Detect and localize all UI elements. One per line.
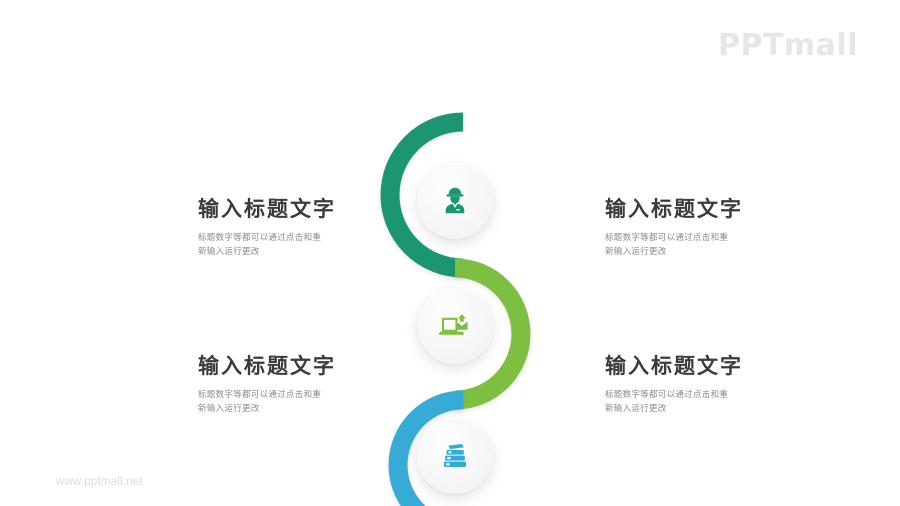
worker-helmet-icon — [438, 184, 472, 218]
text-block-description: 标题数字等都可以通过点击和重 新输入运行更改 — [198, 388, 428, 416]
laptop-mail-icon — [437, 309, 473, 343]
text-block-description: 标题数字等都可以通过点击和重 新输入运行更改 — [605, 231, 835, 259]
text-block-bottom-left: 输入标题文字 标题数字等都可以通过点击和重 新输入运行更改 — [198, 353, 428, 416]
icon-circle-laptop-mail[interactable] — [417, 288, 493, 364]
text-block-top-left: 输入标题文字 标题数字等都可以通过点击和重 新输入运行更改 — [198, 196, 428, 259]
text-block-bottom-right: 输入标题文字 标题数字等都可以通过点击和重 新输入运行更改 — [605, 353, 835, 416]
text-block-title: 输入标题文字 — [198, 196, 428, 222]
footer-url: www.pptmall.net — [56, 476, 143, 488]
brand-logo: PPTmall — [718, 28, 858, 63]
slide-canvas: PPTmall — [0, 0, 900, 506]
text-block-description: 标题数字等都可以通过点击和重 新输入运行更改 — [605, 388, 835, 416]
text-block-title: 输入标题文字 — [605, 353, 835, 379]
text-block-title: 输入标题文字 — [605, 196, 835, 222]
text-block-description: 标题数字等都可以通过点击和重 新输入运行更改 — [198, 231, 428, 259]
book-stack-icon — [438, 440, 472, 472]
icon-circle-worker[interactable] — [417, 163, 493, 239]
text-block-top-right: 输入标题文字 标题数字等都可以通过点击和重 新输入运行更改 — [605, 196, 835, 259]
text-block-title: 输入标题文字 — [198, 353, 428, 379]
icon-circle-book-stack[interactable] — [417, 418, 493, 494]
